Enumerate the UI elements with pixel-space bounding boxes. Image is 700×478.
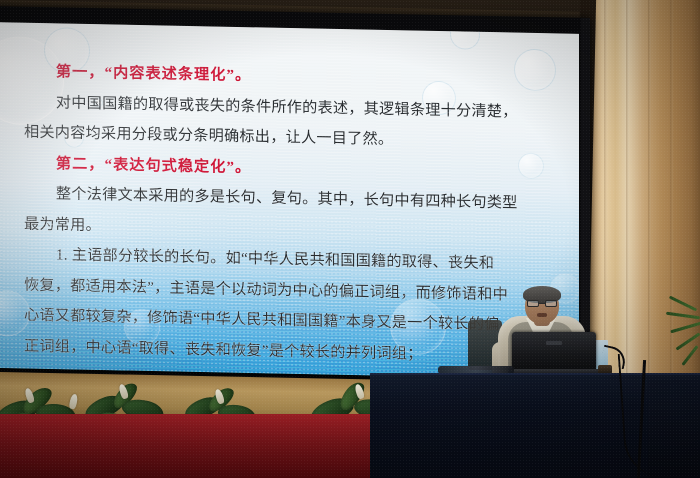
laptop-logo [546, 341, 562, 345]
speaker-mouth [537, 313, 547, 317]
eyeglasses-icon [527, 300, 557, 307]
presentation-photo: 第一，“内容表述条理化”。 对中国国籍的取得或丧失的条件所作的表述，其逻辑条理十… [0, 0, 700, 478]
laptop-lid [512, 332, 596, 370]
laptop-computer[interactable] [508, 332, 600, 378]
